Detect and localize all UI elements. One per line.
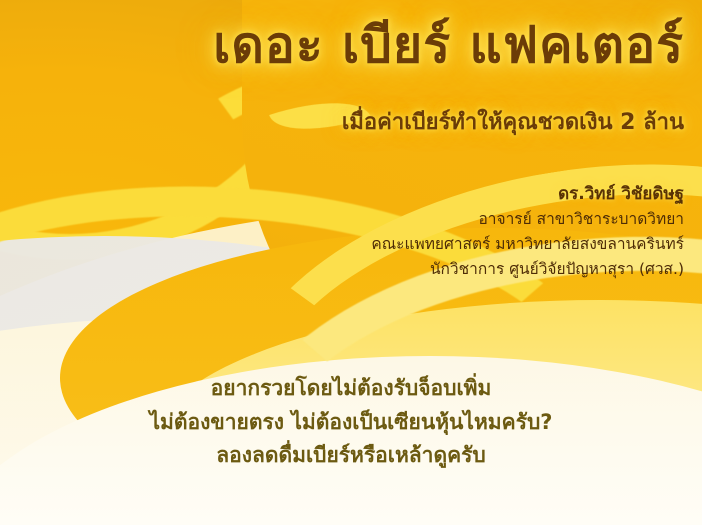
slide-content: เดอะ เบียร์ แฟคเตอร์ เมื่อค่าเบียร์ทำให้… (0, 0, 702, 525)
author-affiliation-3: นักวิชาการ ศูนย์วิจัยปัญหาสุรา (ศวส.) (371, 257, 684, 282)
closing-message: อยากรวยโดยไม่ต้องรับจ็อบเพิ่ม ไม่ต้องขาย… (0, 372, 702, 473)
author-credits: ดร.วิทย์ วิชัยดิษฐ อาจารย์ สาขาวิชาระบาด… (371, 182, 684, 282)
message-line-2: ไม่ต้องขายตรง ไม่ต้องเป็นเซียนหุ้นไหมครั… (0, 406, 702, 440)
author-affiliation-1: อาจารย์ สาขาวิชาระบาดวิทยา (371, 207, 684, 232)
message-line-3: ลองลดดื่มเบียร์หรือเหล้าดูครับ (0, 439, 702, 473)
slide-title: เดอะ เบียร์ แฟคเตอร์ (213, 18, 684, 73)
author-name: ดร.วิทย์ วิชัยดิษฐ (371, 182, 684, 207)
slide-subtitle: เมื่อค่าเบียร์ทำให้คุณชวดเงิน 2 ล้าน (342, 104, 684, 139)
author-affiliation-2: คณะแพทยศาสตร์ มหาวิทยาลัยสงขลานครินทร์ (371, 232, 684, 257)
presentation-slide: เดอะ เบียร์ แฟคเตอร์ เมื่อค่าเบียร์ทำให้… (0, 0, 702, 525)
message-line-1: อยากรวยโดยไม่ต้องรับจ็อบเพิ่ม (0, 372, 702, 406)
